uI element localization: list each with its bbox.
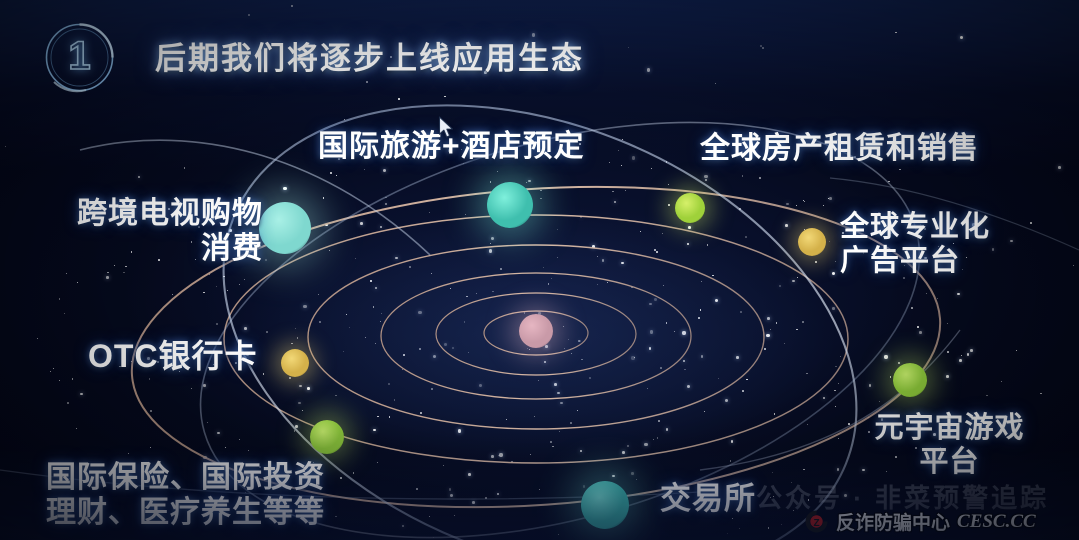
star: [50, 371, 51, 372]
star: [499, 453, 502, 456]
planet-lime-top: [675, 193, 705, 223]
star: [539, 489, 541, 491]
star: [917, 326, 919, 328]
star: [739, 528, 740, 529]
star: [668, 204, 670, 206]
star: [1001, 381, 1002, 382]
star: [353, 472, 355, 474]
star: [551, 278, 552, 279]
star: [688, 226, 691, 229]
star: [431, 273, 432, 274]
star: [742, 175, 743, 176]
star: [919, 331, 922, 334]
star: [216, 323, 218, 325]
star: [265, 259, 268, 262]
star: [540, 198, 542, 200]
star: [420, 412, 422, 414]
star: [266, 331, 268, 333]
star: [848, 423, 850, 425]
star: [746, 379, 747, 380]
star: [385, 203, 388, 206]
star: [840, 356, 841, 357]
star: [344, 119, 345, 120]
star: [64, 313, 65, 314]
star: [377, 416, 379, 418]
star: [402, 369, 403, 370]
star: [429, 212, 430, 213]
star: [534, 416, 535, 417]
star: [349, 327, 350, 328]
label-realty: 全球房产租赁和销售: [700, 131, 979, 166]
star: [485, 497, 487, 499]
anti-fraud-watermark: Z 反诈防骗中心 CESC.CC: [804, 508, 1036, 535]
star: [682, 331, 685, 334]
star: [491, 455, 494, 458]
star: [657, 437, 659, 439]
star: [704, 411, 705, 412]
star: [375, 287, 378, 290]
star: [550, 441, 552, 443]
star: [803, 200, 804, 201]
star: [491, 237, 494, 240]
star: [227, 290, 228, 291]
star: [294, 430, 295, 431]
star: [578, 340, 580, 342]
star: [785, 224, 788, 227]
star: [739, 208, 741, 210]
star: [823, 397, 826, 400]
star: [796, 329, 797, 330]
star: [796, 205, 797, 206]
star: [239, 439, 240, 440]
star: [668, 184, 669, 185]
star: [835, 366, 837, 368]
star: [662, 233, 663, 234]
anti-fraud-logo-icon: Z: [804, 509, 829, 534]
planet-green-right: [893, 363, 927, 397]
star: [986, 395, 988, 397]
star: [388, 383, 390, 385]
star: [970, 349, 973, 352]
label-insurance: 国际保险、国际投资 理财、医疗养生等等: [46, 460, 325, 531]
star: [634, 357, 635, 358]
star: [500, 268, 502, 270]
star: [383, 169, 386, 172]
star: [492, 291, 494, 293]
star: [967, 353, 970, 356]
star: [705, 179, 708, 182]
star: [184, 167, 186, 169]
star: [72, 378, 74, 380]
star: [530, 454, 531, 455]
star: [792, 280, 795, 283]
star: [829, 241, 830, 242]
star: [731, 440, 734, 443]
label-otc-card: OTC银行卡: [88, 338, 258, 376]
star: [346, 314, 347, 315]
star: [217, 432, 220, 435]
star: [961, 355, 962, 356]
star: [450, 288, 451, 289]
star: [545, 345, 548, 348]
star: [416, 488, 418, 490]
star: [888, 181, 889, 182]
star: [577, 410, 578, 411]
star: [389, 416, 390, 417]
star: [444, 96, 445, 97]
star: [59, 298, 61, 300]
star: [172, 294, 174, 296]
star: [784, 343, 786, 345]
star: [263, 373, 265, 375]
star: [394, 399, 396, 401]
star: [128, 453, 129, 454]
star: [732, 518, 734, 520]
star: [802, 321, 804, 323]
label-metaverse: 元宇宙游戏 平台: [862, 411, 1037, 479]
star: [666, 322, 667, 323]
star: [687, 243, 690, 246]
svg-text:Z: Z: [813, 518, 819, 529]
star: [628, 47, 629, 48]
star: [336, 175, 337, 176]
star: [803, 469, 805, 471]
star: [302, 410, 303, 411]
planet-teal-top: [487, 182, 533, 228]
star: [385, 197, 387, 199]
star: [640, 231, 641, 232]
star: [216, 286, 217, 287]
star: [698, 317, 700, 319]
center-core: [519, 314, 553, 348]
star: [946, 375, 949, 378]
star: [772, 472, 773, 473]
star: [5, 146, 6, 147]
star: [832, 307, 835, 310]
star: [380, 226, 383, 229]
star: [498, 455, 499, 456]
star: [511, 461, 513, 463]
star: [700, 309, 702, 311]
star: [370, 280, 371, 281]
star: [37, 338, 38, 339]
star: [625, 190, 626, 191]
star: [489, 249, 492, 252]
planet-gold-right: [798, 228, 826, 256]
star: [650, 330, 653, 333]
star: [647, 68, 650, 71]
star: [609, 162, 610, 163]
star: [335, 516, 337, 518]
label-travel-hotel: 国际旅游+酒店预定: [318, 129, 585, 164]
star: [581, 359, 582, 360]
star: [355, 258, 356, 259]
star: [621, 262, 624, 265]
star: [340, 477, 342, 479]
star: [815, 261, 817, 263]
star: [707, 244, 709, 246]
star: [764, 348, 766, 350]
star: [770, 329, 772, 331]
star: [403, 354, 405, 356]
star: [377, 462, 378, 463]
star: [879, 401, 880, 402]
star: [806, 373, 808, 375]
star: [828, 198, 829, 199]
star: [149, 378, 150, 379]
star: [77, 282, 79, 284]
slide-canvas: 1 后期我们将逐步上线应用生态 跨境电视购物 消费 国际旅游+酒店预定 全球房产…: [0, 0, 1079, 540]
star: [529, 349, 530, 350]
star: [452, 347, 455, 350]
star: [466, 296, 468, 298]
star: [838, 383, 839, 384]
star: [375, 343, 376, 344]
star: [464, 321, 465, 322]
star: [543, 267, 544, 268]
star: [319, 321, 321, 323]
label-ad-platform: 全球专业化 广告平台: [840, 210, 1070, 278]
star: [283, 187, 286, 190]
star: [718, 378, 719, 379]
star: [715, 83, 716, 84]
star: [715, 299, 718, 302]
star: [658, 420, 660, 422]
star: [80, 393, 83, 396]
anti-fraud-label: 反诈防骗中心: [836, 508, 950, 535]
star: [589, 377, 591, 379]
star: [890, 376, 892, 378]
star: [742, 390, 744, 392]
star: [150, 410, 151, 411]
star: [807, 424, 808, 425]
star: [1016, 350, 1017, 351]
star: [468, 352, 469, 353]
star: [325, 224, 328, 227]
star: [730, 460, 732, 462]
star: [959, 359, 962, 362]
star: [295, 425, 298, 428]
star: [1058, 166, 1061, 169]
planet-green-left: [310, 420, 344, 454]
star: [557, 229, 558, 230]
star: [207, 422, 208, 423]
star: [704, 175, 707, 178]
star: [727, 533, 728, 534]
star: [663, 285, 664, 286]
star: [607, 282, 608, 283]
star: [429, 516, 430, 517]
star: [291, 343, 292, 344]
star: [712, 275, 714, 277]
star: [760, 45, 762, 47]
star: [649, 303, 652, 306]
star: [829, 197, 832, 200]
star: [649, 347, 652, 350]
star: [884, 355, 887, 358]
star: [271, 163, 272, 164]
star: [223, 276, 225, 278]
star: [506, 419, 507, 420]
star: [433, 537, 434, 538]
star: [614, 201, 617, 204]
star: [647, 388, 648, 389]
star: [687, 385, 690, 388]
star: [66, 273, 68, 275]
star: [786, 203, 789, 206]
label-tv-shopping: 跨境电视购物 消费: [38, 196, 263, 267]
anti-fraud-domain: CESC.CC: [957, 511, 1036, 533]
star: [107, 272, 109, 274]
star: [458, 429, 461, 432]
star: [947, 323, 948, 324]
star: [768, 527, 770, 529]
star: [524, 312, 526, 314]
star: [402, 525, 405, 528]
star: [583, 485, 586, 488]
star: [106, 276, 109, 279]
star: [343, 351, 344, 352]
star: [895, 32, 896, 33]
star: [476, 293, 477, 294]
star: [191, 388, 193, 390]
star: [612, 191, 614, 193]
star: [834, 390, 836, 392]
star: [797, 277, 798, 278]
star: [684, 369, 685, 370]
label-exchange: 交易所: [660, 481, 756, 518]
star: [570, 422, 572, 424]
star: [497, 171, 498, 172]
star: [631, 287, 633, 289]
star: [497, 493, 500, 496]
star: [244, 327, 247, 330]
star: [580, 216, 583, 219]
star: [666, 161, 667, 162]
star: [538, 380, 539, 381]
star: [490, 243, 491, 244]
star: [592, 245, 595, 248]
star: [373, 306, 374, 307]
star: [960, 36, 963, 39]
star: [654, 298, 657, 301]
star: [926, 293, 927, 294]
badge-number: 1: [42, 20, 117, 95]
star: [622, 139, 623, 140]
planet-cyan-bottom: [581, 481, 629, 529]
star: [297, 337, 299, 339]
star: [559, 431, 560, 432]
star: [622, 451, 625, 454]
star: [248, 450, 249, 451]
star: [571, 353, 572, 354]
star: [373, 429, 376, 432]
star: [618, 150, 619, 151]
star: [666, 428, 669, 431]
star: [318, 294, 319, 295]
slide-number-badge: 1: [42, 20, 117, 95]
star: [597, 284, 598, 285]
star: [544, 361, 547, 364]
star: [835, 261, 836, 262]
planet-gold-left: [281, 349, 309, 377]
star: [67, 402, 69, 404]
star: [832, 272, 835, 275]
star: [869, 384, 872, 387]
star: [766, 334, 769, 337]
star: [323, 197, 324, 198]
star: [554, 383, 557, 386]
star: [560, 402, 563, 405]
star: [540, 190, 542, 192]
star: [602, 259, 605, 262]
star: [468, 473, 471, 476]
star: [289, 377, 291, 379]
star: [431, 388, 433, 390]
star: [490, 181, 491, 182]
star: [298, 402, 301, 405]
star: [203, 384, 206, 387]
star: [568, 339, 569, 340]
star: [835, 406, 836, 407]
star: [898, 362, 901, 365]
page-title: 后期我们将逐步上线应用生态: [155, 33, 584, 78]
star: [597, 256, 598, 257]
star: [651, 168, 652, 169]
star: [621, 165, 622, 166]
star: [303, 305, 306, 308]
star: [248, 14, 250, 16]
star: [209, 274, 210, 275]
star: [779, 285, 782, 288]
star: [911, 307, 913, 309]
star: [740, 311, 742, 313]
star: [203, 292, 205, 294]
star: [759, 177, 761, 179]
star: [444, 343, 447, 346]
star: [899, 169, 900, 170]
star: [138, 176, 141, 179]
star: [558, 534, 559, 535]
star: [449, 488, 452, 491]
star: [767, 317, 770, 320]
star: [557, 392, 560, 395]
star: [632, 156, 635, 159]
star: [552, 446, 554, 448]
star: [548, 283, 549, 284]
star: [244, 279, 245, 280]
star: [299, 385, 302, 388]
star: [409, 266, 411, 268]
star: [656, 251, 658, 253]
star: [335, 395, 337, 397]
star: [472, 501, 475, 504]
star: [725, 399, 728, 402]
star: [365, 337, 366, 338]
star: [329, 250, 330, 251]
star: [381, 313, 382, 314]
star: [660, 367, 662, 369]
star: [150, 447, 151, 448]
star: [123, 272, 125, 274]
star: [745, 236, 747, 238]
star: [1073, 265, 1075, 267]
star: [774, 413, 776, 415]
star: [627, 445, 630, 448]
star: [838, 438, 839, 439]
star: [330, 172, 332, 174]
star: [465, 214, 466, 215]
